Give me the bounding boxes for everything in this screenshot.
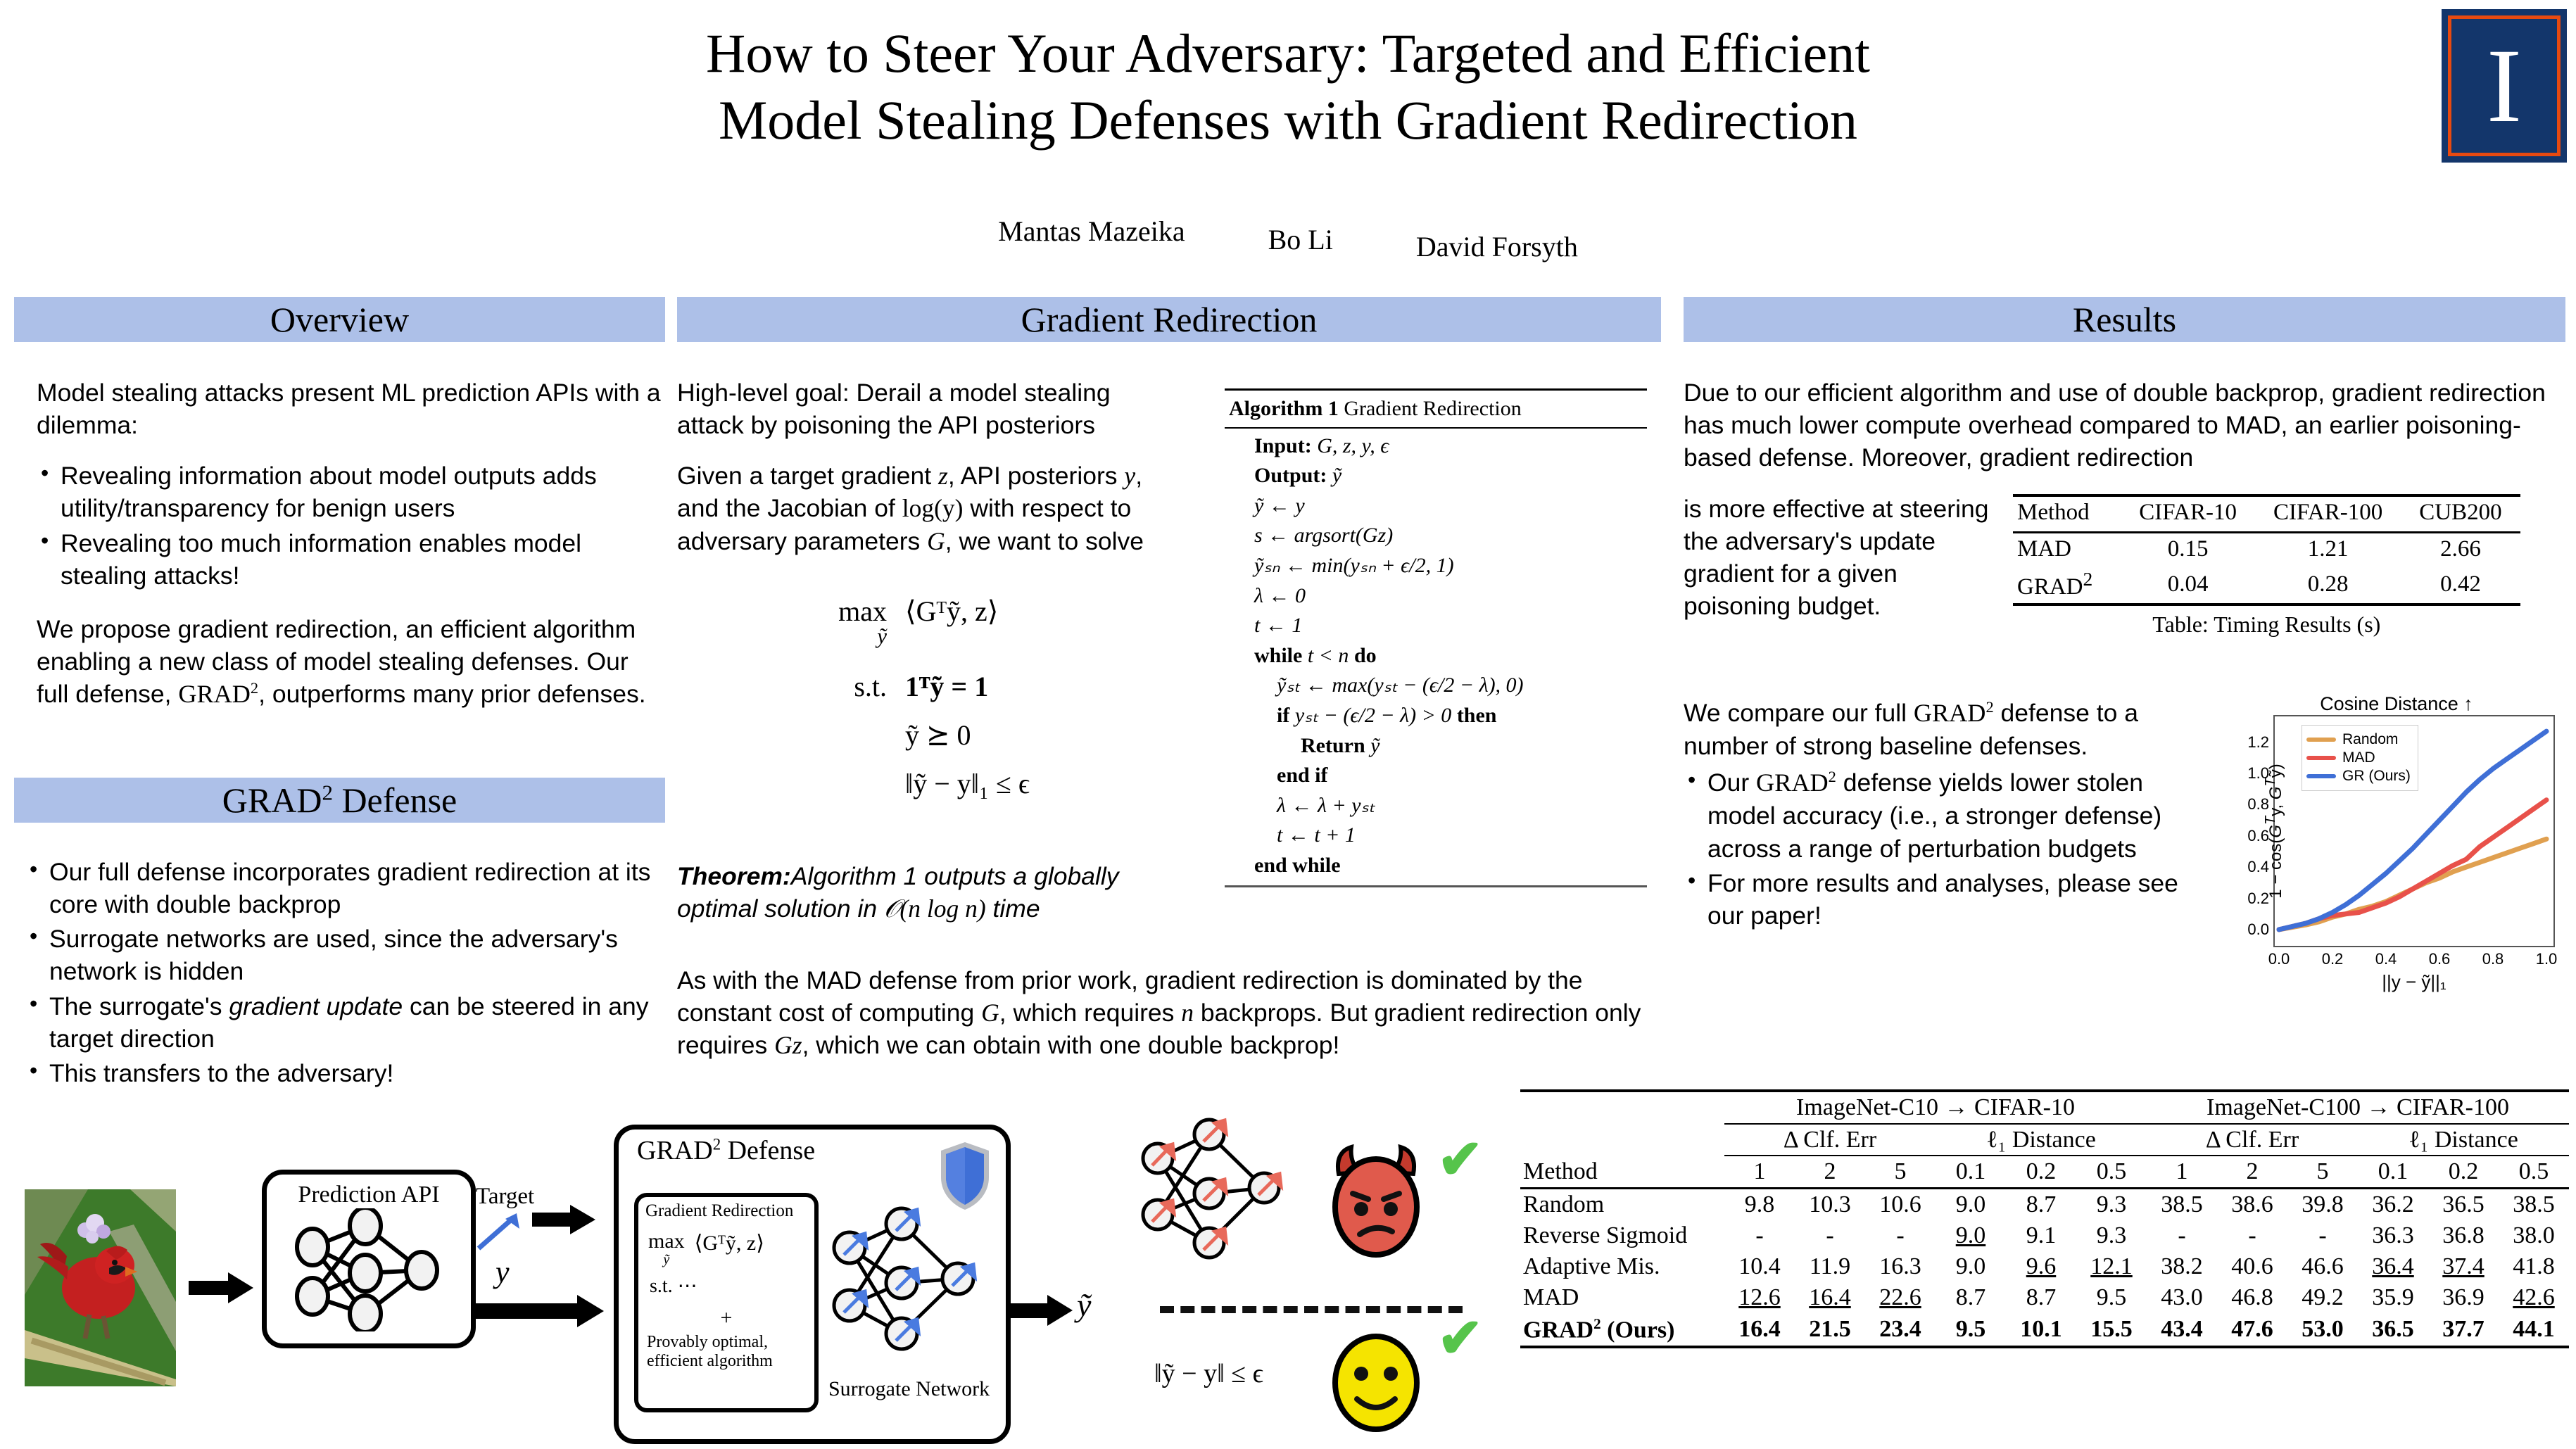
constraint-1: 1ᵀỹ = 1 [905,670,1030,703]
chart-legend: Random MAD GR (Ours) [2302,725,2418,791]
list-item: Our full defense incorporates gradient r… [25,856,666,920]
gr-plus: + [638,1298,814,1330]
section-title-overview: Overview [270,299,409,340]
chart-y-tick: 0.4 [2247,858,2269,876]
col-label: 1 [1724,1156,1795,1189]
algo-line: t ← 1 [1225,611,1647,641]
results-paragraph-1: Due to our efficient algorithm and use o… [1684,377,2567,474]
main-table-body: Random9.810.310.69.08.79.338.538.639.836… [1520,1189,2569,1348]
legend-label-random: Random [2342,731,2398,748]
cell-value: 16.3 [1865,1251,1936,1282]
arrow-target-to-defense [532,1203,595,1239]
algo-line: ỹₛₙ ← min(yₛₙ + ϵ/2, 1) [1225,551,1647,581]
right-arrow-icon [532,1203,595,1236]
gr-max: max [648,1231,685,1252]
cell-value: - [1724,1220,1795,1251]
section-title-grad2-defense: GRAD2 Defense [222,780,457,821]
algo-body: Input: G, z, y, ϵ Output: ỹ ỹ ← y s ← … [1225,429,1647,885]
cell-value: 38.0 [2499,1220,2569,1251]
grad2-defense-content: Our full defense incorporates gradient r… [25,856,666,1092]
chart-y-tick: 0.6 [2247,827,2269,845]
timing-table-caption: Table: Timing Results (s) [2013,605,2520,640]
section-title-results: Results [2073,299,2176,340]
cell-value: 9.0 [1936,1251,2006,1282]
cell-value: 11.9 [1795,1251,1865,1282]
cell-value: 9.3 [2076,1189,2147,1221]
col-header-cub200: CUB200 [2401,497,2520,533]
main-results-table: ImageNet-C10 → CIFAR-10 ImageNet-C100 → … [1520,1089,2569,1348]
subheader-clferr-c10: Δ Clf. Err [1724,1124,1936,1156]
results-p2: We compare our full GRAD2 defense to a n… [1684,697,2190,762]
col-label: 0.1 [2358,1156,2428,1189]
subheader-l1-c100: ℓ₁ Distance [2358,1124,2569,1156]
col-header-cifar10: CIFAR-10 [2121,497,2255,533]
cell-value: 22.6 [1865,1282,1936,1313]
cell-value: 38.5 [2147,1189,2217,1221]
list-item: Revealing too much information enables m… [37,527,663,592]
table-header-row: Method CIFAR-10 CIFAR-100 CUB200 [2013,497,2520,533]
chart-y-tick: 1.2 [2247,733,2269,752]
algo-line: ỹ ← y [1225,491,1647,521]
col-label: 0.1 [1936,1156,2006,1189]
algo-line: if yₛₜ − (ϵ/2 − λ) > 0 then [1225,701,1647,731]
cell-value: 8.7 [1936,1282,2006,1313]
chart-x-tick: 0.2 [2322,950,2344,968]
page-title: How to Steer Your Adversary: Targeted an… [0,20,2576,153]
col-label: 0.5 [2499,1156,2569,1189]
theorem-label: Theorem: [677,862,791,890]
grad2-bullets: Our full defense incorporates gradient r… [25,856,666,1089]
group-header-c100: ImageNet-C100 → CIFAR-100 [2147,1092,2569,1124]
diagonal-arrow-icon [473,1209,522,1253]
gr-goal: High-level goal: Derail a model stealing… [677,377,1170,441]
arrow-api-to-defense [473,1293,604,1332]
col-label: 5 [1865,1156,1936,1189]
optimization-problem: max ỹ ⟨Gᵀỹ, z⟩ s.t. 1ᵀỹ = 1 ỹ ⪰ 0 ‖ỹ… [774,595,1168,800]
title-line-2: Model Stealing Defenses with Gradient Re… [0,87,2576,153]
cell-value: 9.0 [1936,1220,2006,1251]
chart-x-tick: 0.4 [2375,950,2397,968]
results-paragraph-2: We compare our full GRAD2 defense to a n… [1684,697,2190,934]
table-row: GRAD2 0.04 0.28 0.42 [2013,565,2520,605]
cell-value: 39.8 [2287,1189,2358,1221]
list-item: For more results and analyses, please se… [1684,867,2190,932]
gr-given: Given a target gradient z, API posterior… [677,460,1170,557]
author-2: Bo Li [1268,223,1333,256]
cell-value: 47.6 [2217,1313,2287,1347]
algo-line: while t < n do [1225,641,1647,671]
list-item: This transfers to the adversary! [25,1057,666,1089]
algo-caption: Algorithm 1 Gradient Redirection [1225,391,1647,427]
cell-value: 37.4 [2428,1251,2499,1282]
table-row: MAD12.616.422.68.78.79.543.046.849.235.9… [1520,1282,2569,1313]
col-label: 5 [2287,1156,2358,1189]
y-label: y [495,1254,510,1290]
list-item: Revealing information about model output… [37,460,663,524]
cell-value: 21.5 [1795,1313,1865,1347]
cell-value: 37.7 [2428,1313,2499,1347]
prediction-api-label: Prediction API [267,1175,471,1208]
cell-value: 36.4 [2358,1251,2428,1282]
cell-value: - [2287,1220,2358,1251]
adversary-network-icon [1133,1118,1292,1272]
legend-entry-random: Random [2306,731,2411,748]
theorem-block: Theorem:Algorithm 1 outputs a globally o… [677,860,1184,925]
cell-value: 38.5 [2499,1189,2569,1221]
table-subheader-row: Δ Clf. Err ℓ₁ Distance Δ Clf. Err ℓ₁ Dis… [1520,1124,2569,1156]
bird-photo [25,1189,176,1386]
objective-max: max [774,595,887,628]
col-header-method: Method [1520,1156,1724,1189]
arrow-image-to-api [189,1271,253,1308]
cell-value: 53.0 [2287,1313,2358,1347]
cell-value: 42.6 [2499,1282,2569,1313]
gr-max-sub: ỹ [648,1252,685,1268]
cell-method: Adaptive Mis. [1520,1251,1724,1282]
cell-value: 10.4 [1724,1251,1795,1282]
group-header-c10: ImageNet-C10 → CIFAR-10 [1724,1092,2147,1124]
cell-value: 36.5 [2428,1189,2499,1221]
grad-label: GRAD2 [1914,699,1994,727]
check-icon-adversary: ✔ [1437,1132,1483,1187]
cell-value: 16.4 [1724,1313,1795,1347]
author-list: Mantas MazeikaBo LiDavid Forsyth [0,215,2576,248]
cell-value: 10.1 [2006,1313,2076,1347]
theorem-text-b: time [986,894,1040,923]
overview-paragraph-2: We propose gradient redirection, an effi… [37,613,663,711]
smiley-face-icon [1323,1330,1429,1436]
constraint-3: ‖ỹ − y‖₁ ≤ ϵ [905,767,1030,800]
legend-label-mad: MAD [2342,749,2375,766]
cell-value: 9.3 [2076,1220,2147,1251]
cell-method: Reverse Sigmoid [1520,1220,1724,1251]
cell-value: 38.6 [2217,1189,2287,1221]
cell-value: 8.7 [2006,1189,2076,1221]
devil-face-icon [1323,1140,1429,1260]
cell-value: 41.8 [2499,1251,2569,1282]
cell-value: 38.2 [2147,1251,2217,1282]
shield-icon [938,1141,992,1211]
col-label: 2 [1795,1156,1865,1189]
algo-line: Output: ỹ [1225,461,1647,491]
overview-p2-b: , outperforms many prior defenses. [258,680,646,708]
right-arrow-icon [189,1271,253,1305]
check-icon-benign: ✔ [1437,1310,1483,1365]
logo-frame: I [2448,15,2561,156]
cell-value: - [1865,1220,1936,1251]
cell-value: 2.66 [2401,533,2520,566]
algo-line: end while [1225,851,1647,881]
chart-series-mad [2279,800,2546,930]
col-label: 0.2 [2428,1156,2499,1189]
grad2-defense-diagram-box: GRAD2 Defense Gradient Redirection max y… [614,1125,1011,1444]
cell-value: 36.3 [2358,1220,2428,1251]
gr-expr: ⟨Gᵀỹ, z⟩ [695,1231,764,1255]
list-item: Surrogate networks are used, since the a… [25,923,666,987]
timing-results-table: Method CIFAR-10 CIFAR-100 CUB200 MAD 0.1… [2013,494,2520,640]
target-arrow [473,1209,522,1256]
cell-value: 36.8 [2428,1220,2499,1251]
university-logo: I [2442,9,2567,163]
gr-closing-paragraph: As with the MAD defense from prior work,… [677,964,1662,1061]
section-title-gradient-redirection: Gradient Redirection [1021,299,1318,340]
gradient-redirection-text: High-level goal: Derail a model stealing… [677,377,1170,576]
logo-letter-i: I [2487,33,2522,139]
legend-label-gr: GR (Ours) [2342,768,2411,785]
col-header-method: Method [2013,497,2121,533]
chart-x-tick: 0.0 [2268,950,2290,968]
cell-value: 9.1 [2006,1220,2076,1251]
table-column-label-row: Method 1 2 5 0.1 0.2 0.5 1 2 5 0.1 0.2 0… [1520,1156,2569,1189]
legend-swatch-mad [2306,756,2336,760]
cell-value: 9.5 [2076,1282,2147,1313]
constraints-list: 1ᵀỹ = 1 ỹ ⪰ 0 ‖ỹ − y‖₁ ≤ ϵ [905,670,1030,800]
cell-value: 40.6 [2217,1251,2287,1282]
legend-swatch-gr [2306,774,2336,778]
cell-value: - [2147,1220,2217,1251]
algo-line: λ ← λ + yₛₜ [1225,791,1647,821]
cosine-distance-chart: Cosine Distance ↑ Random MAD GR (Ours) 1… [2235,693,2558,993]
author-3: David Forsyth [1416,230,1578,263]
cell-value: - [2217,1220,2287,1251]
cell-value: 10.3 [1795,1189,1865,1221]
subheader-clferr-c100: Δ Clf. Err [2147,1124,2358,1156]
legend-entry-gr: GR (Ours) [2306,768,2411,785]
main-results-table-wrapper: ImageNet-C10 → CIFAR-10 ImageNet-C100 → … [1520,1089,2569,1348]
cell-method: Random [1520,1189,1724,1221]
cell-value: 8.7 [2006,1282,2076,1313]
diagram-divider [1160,1306,1463,1313]
chart-y-tick: 0.8 [2247,795,2269,814]
list-item: The surrogate's gradient update can be s… [25,990,666,1055]
cell-value: 46.6 [2287,1251,2358,1282]
overview-content: Model stealing attacks present ML predic… [37,377,663,729]
bird-illustration [25,1189,176,1386]
gr-inner-title: Gradient Redirection [638,1197,814,1221]
cell-value: 0.28 [2255,565,2401,605]
cell-method: MAD [1520,1282,1724,1313]
cell-value: 16.4 [1795,1282,1865,1313]
results-bullets: Our GRAD2 defense yields lower stolen mo… [1684,766,2190,932]
ytilde-label: ỹ [1077,1286,1091,1324]
table-row: Adaptive Mis.10.411.916.39.09.612.138.24… [1520,1251,2569,1282]
cell-value: 9.8 [1724,1189,1795,1221]
chart-x-tick: 0.6 [2429,950,2451,968]
algo-line: Input: G, z, y, ϵ [1225,431,1647,462]
cell-value: 49.2 [2287,1282,2358,1313]
algo-line: end if [1225,761,1647,791]
cell-value: 43.0 [2147,1282,2217,1313]
cell-value: 12.1 [2076,1251,2147,1282]
algo-line: t ← t + 1 [1225,821,1647,851]
chart-plot-area: Random MAD GR (Ours) 1 − cos(GTy, GTỹ) 0… [2273,715,2555,947]
section-header-gradient-redirection: Gradient Redirection [677,297,1661,342]
col-label: 2 [2217,1156,2287,1189]
cell-value: 23.4 [1865,1313,1936,1347]
algo-line: s ← argsort(Gz) [1225,521,1647,551]
list-item: Our GRAD2 defense yields lower stolen mo… [1684,766,2190,864]
col-header-cifar100: CIFAR-100 [2255,497,2401,533]
overview-intro: Model stealing attacks present ML predic… [37,377,663,441]
algo-line: ỹₛₜ ← max(yₛₜ − (ϵ/2 − λ), 0) [1225,671,1647,701]
constraints-st-label: s.t. [774,670,887,703]
surrogate-network-icon [823,1206,986,1364]
emph-gradient-update: gradient update [229,992,403,1020]
chart-y-tick: 0.0 [2247,920,2269,939]
gr-note: Provably optimal, efficient algorithm [638,1330,814,1371]
cell-value: 36.9 [2428,1282,2499,1313]
cell-method: GRAD2 (Ours) [1520,1313,1724,1347]
section-header-overview: Overview [14,297,665,342]
chart-x-tick: 0.8 [2482,950,2504,968]
legend-swatch-random [2306,738,2336,742]
algo-line: λ ← 0 [1225,581,1647,612]
neural-network-icon [277,1208,460,1331]
table-group-header-row: ImageNet-C10 → CIFAR-10 ImageNet-C100 → … [1520,1092,2569,1124]
results-paragraph-1-cont: is more effective at steering the advers… [1684,493,2007,623]
table-caption-row: Table: Timing Results (s) [2013,605,2520,640]
grad-label: GRAD2 [178,680,258,708]
col-label: 1 [2147,1156,2217,1189]
grad2-defense-diagram-title: GRAD2 Defense [637,1135,815,1166]
section-header-results: Results [1684,297,2565,342]
cell-value: 44.1 [2499,1313,2569,1347]
cell-value: 36.5 [2358,1313,2428,1347]
table-row: Random9.810.310.69.08.79.338.538.639.836… [1520,1189,2569,1221]
cell-value: 10.6 [1865,1189,1936,1221]
gradient-redirection-inner-box: Gradient Redirection max ỹ ⟨Gᵀỹ, z⟩ s.… [634,1193,819,1412]
arrow-defense-to-output [1009,1293,1073,1331]
algo-line: Return ỹ [1225,731,1647,761]
author-1: Mantas Mazeika [998,215,1185,248]
prediction-api-box: Prediction API [262,1170,476,1348]
legend-entry-mad: MAD [2306,749,2411,766]
chart-title: Cosine Distance ↑ [2235,693,2558,715]
theorem-complexity: 𝒪(n log n) [884,894,986,923]
cell-value: 46.8 [2217,1282,2287,1313]
cell-method: GRAD2 [2013,565,2121,605]
cell-value: 9.0 [1936,1189,2006,1221]
algo-rule-bottom [1225,885,1647,887]
algorithm-box: Algorithm 1 Gradient Redirection Input: … [1225,388,1647,887]
col-label: 0.2 [2006,1156,2076,1189]
chart-x-tick: 1.0 [2536,950,2558,968]
cell-value: 36.2 [2358,1189,2428,1221]
cell-value: 9.5 [1936,1313,2006,1347]
title-line-1: How to Steer Your Adversary: Targeted an… [0,20,2576,87]
cell-value: 0.04 [2121,565,2255,605]
col-label: 0.5 [2076,1156,2147,1189]
target-label: Target [476,1184,534,1210]
subheader-l1-c10: ℓ₁ Distance [1936,1124,2147,1156]
cell-value: 15.5 [2076,1313,2147,1347]
cell-value: 0.42 [2401,565,2520,605]
cell-value: 43.4 [2147,1313,2217,1347]
overview-bullets: Revealing information about model output… [37,460,663,592]
gr-st: s.t. ⋯ [638,1268,814,1298]
cell-value: 9.6 [2006,1251,2076,1282]
cell-value: 12.6 [1724,1282,1795,1313]
chart-y-tick: 0.2 [2247,890,2269,908]
grad-label: GRAD2 [1756,768,1836,797]
table-row: Reverse Sigmoid---9.09.19.3---36.336.838… [1520,1220,2569,1251]
objective-expression: ⟨Gᵀỹ, z⟩ [905,595,998,628]
right-arrow-icon [1009,1293,1073,1327]
constraint-2: ỹ ⪰ 0 [905,719,1030,752]
cell-value: 35.9 [2358,1282,2428,1313]
chart-x-axis-label: ||y − ỹ||₁ [2273,971,2555,993]
cell-value: 0.15 [2121,533,2255,566]
surrogate-network-label: Surrogate Network [828,1377,990,1401]
chart-y-tick: 1.0 [2247,764,2269,783]
table-row: MAD 0.15 1.21 2.66 [2013,533,2520,566]
cell-method: MAD [2013,533,2121,566]
cell-value: 1.21 [2255,533,2401,566]
epsilon-constraint-label: ‖ỹ − y‖ ≤ ϵ [1154,1358,1263,1389]
section-header-grad2-defense: GRAD2 Defense [14,778,665,823]
right-arrow-icon [473,1293,604,1329]
table-row: GRAD2 (Ours)16.421.523.49.510.115.543.44… [1520,1313,2569,1347]
cell-value: - [1795,1220,1865,1251]
